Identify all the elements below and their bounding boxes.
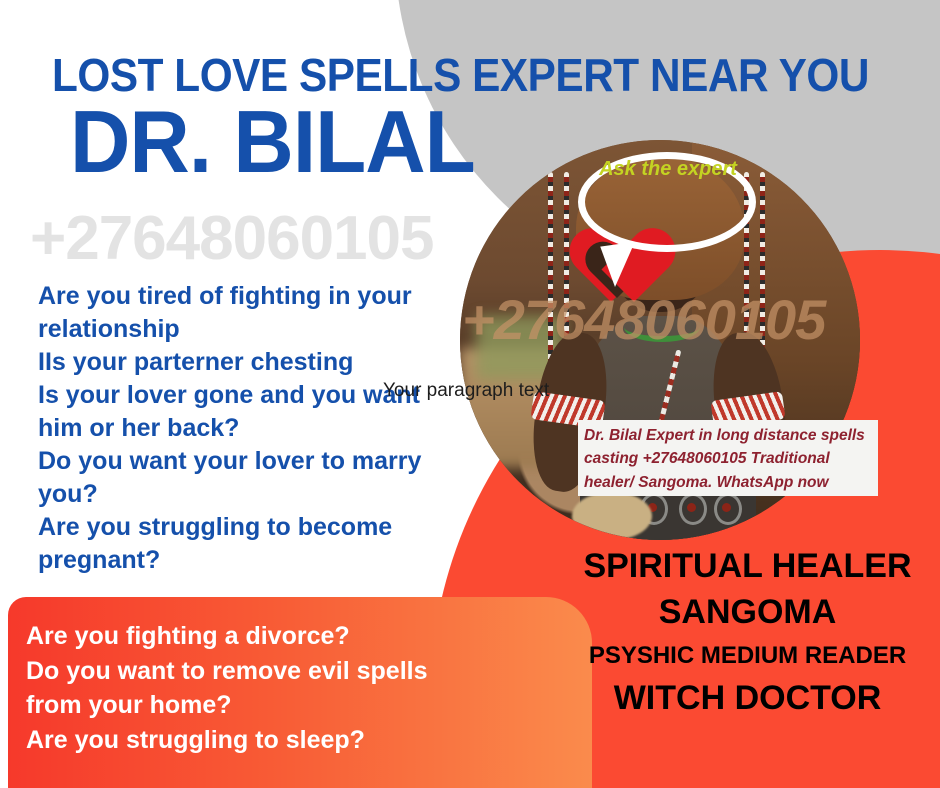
offer-line: Do you want to remove evil spells — [26, 654, 592, 689]
practitioner-name: DR. BILAL — [70, 98, 475, 186]
photo-bowl — [572, 492, 652, 540]
offer-line: from your home? — [26, 688, 592, 723]
caption-line: casting +27648060105 Traditional — [584, 447, 878, 470]
list-item: Are you struggling to become pregnant? — [38, 511, 468, 577]
service-item: SPIRITUAL HEALER — [555, 545, 940, 588]
service-item: PSYSHIC MEDIUM READER — [555, 637, 940, 675]
list-item: Are you tired of fighting in your relati… — [38, 280, 468, 346]
service-item: WITCH DOCTOR — [555, 675, 940, 723]
ghost-phone-number: +27648060105 — [30, 208, 434, 270]
flyer-canvas: LOST LOVE SPELLS EXPERT NEAR YOU DR. BIL… — [0, 0, 940, 788]
speech-bubble-label: Ask the expert — [588, 156, 748, 183]
photo-caption-box: Dr. Bilal Expert in long distance spells… — [578, 420, 878, 496]
beaded-necklace — [624, 312, 700, 342]
caption-line: Dr. Bilal Expert in long distance spells — [584, 424, 878, 447]
bead-strand-icon — [548, 172, 553, 380]
service-item: SANGOMA — [555, 588, 940, 637]
offer-line: Are you fighting a divorce? — [26, 619, 592, 654]
question-list: Are you tired of fighting in your relati… — [38, 280, 468, 577]
caption-line: healer/ Sangoma. WhatsApp now — [584, 471, 878, 494]
speech-bubble-tail-icon — [600, 242, 641, 288]
list-item: Do you want your lover to marry you? — [38, 445, 468, 511]
list-item: IIs your parterner chesting — [38, 346, 468, 379]
offer-line: Are you struggling to sleep? — [26, 723, 592, 758]
services-list: SPIRITUAL HEALER SANGOMA PSYSHIC MEDIUM … — [555, 545, 940, 723]
offer-card: Are you fighting a divorce? Do you want … — [8, 597, 592, 788]
paragraph-placeholder: Your paragraph text — [383, 380, 549, 402]
